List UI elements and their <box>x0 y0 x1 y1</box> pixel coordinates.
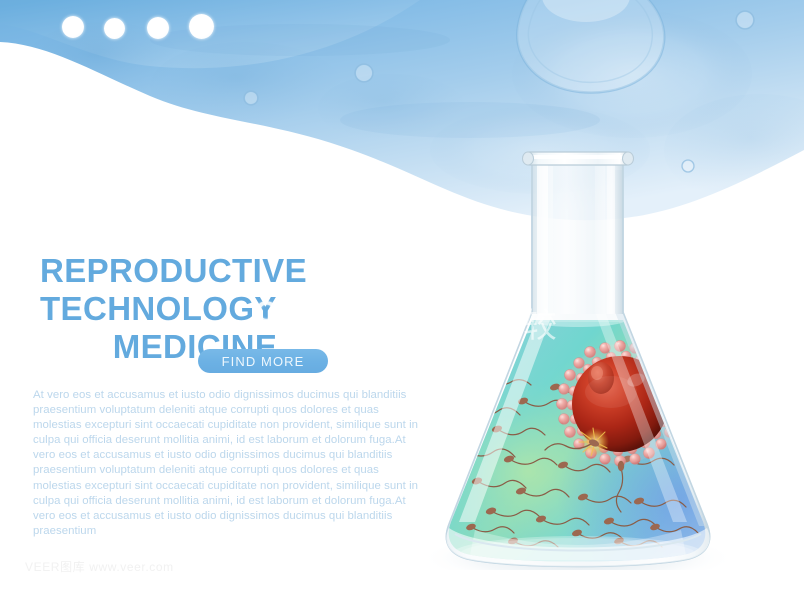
banner-canvas: REPRODUCTIVE TECHNOLOGY MEDICINE FIND MO… <box>0 0 804 590</box>
watermark-bottom-left: VEER图库 www.veer.com <box>25 558 174 575</box>
header-dot-1 <box>62 16 84 38</box>
header-dot-3 <box>147 17 169 39</box>
header-dot-4 <box>189 14 214 39</box>
find-more-button[interactable]: FIND MORE <box>198 349 328 373</box>
flask-rim <box>523 152 634 165</box>
page-title-line-1: REPRODUCTIVE TECHNOLOGY <box>40 252 490 328</box>
header-dot-2 <box>104 18 125 39</box>
hero-body-text: At vero eos et accusamus et iusto odio d… <box>33 388 429 539</box>
